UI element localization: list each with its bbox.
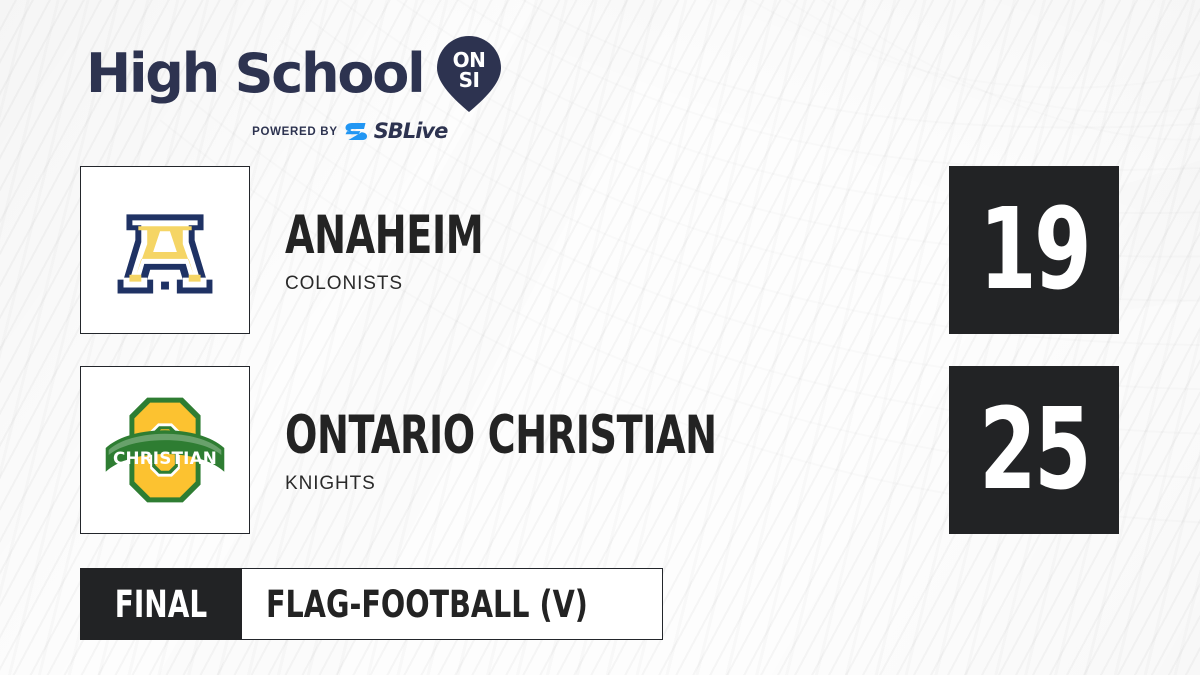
team-logo-card: CHRISTIAN <box>80 366 250 534</box>
team-text-block: ANAHEIM COLONISTS <box>285 166 1045 334</box>
team-logo-card <box>80 166 250 334</box>
team-score: 19 <box>979 194 1089 306</box>
game-status-badge: FINAL <box>80 568 242 640</box>
ontario-christian-knights-logo: CHRISTIAN <box>81 367 249 533</box>
on-si-pin-icon: ON SI <box>437 36 501 112</box>
team-score-box: 25 <box>949 366 1119 534</box>
sport-label-box: FLAG-FOOTBALL (V) <box>242 568 663 640</box>
anaheim-colonists-logo <box>81 167 249 333</box>
team-name: ONTARIO CHRISTIAN <box>285 409 717 462</box>
sport-label: FLAG-FOOTBALL (V) <box>266 586 588 623</box>
sblive-wordmark: SBLive <box>374 121 448 142</box>
powered-by-label: POWERED BY <box>252 126 338 138</box>
team-text-block: ONTARIO CHRISTIAN KNIGHTS <box>285 366 1045 534</box>
game-status-label: FINAL <box>115 586 207 623</box>
team-score-box: 19 <box>949 166 1119 334</box>
brand-title-row: High School ON SI <box>86 36 501 112</box>
status-bar: FINAL FLAG-FOOTBALL (V) <box>80 568 663 640</box>
team-name: ANAHEIM <box>285 209 483 262</box>
team-mascot: KNIGHTS <box>285 474 376 493</box>
pin-text-si: SI <box>459 68 480 92</box>
sblive-s-mark-icon <box>345 123 367 140</box>
team-score: 25 <box>979 394 1089 506</box>
brand-lockup: High School ON SI POWERED BY SBLive <box>86 36 501 142</box>
logo-wordmark: CHRISTIAN <box>113 448 217 468</box>
scoreboard-graphic: High School ON SI POWERED BY SBLive <box>0 0 1200 675</box>
powered-by-row: POWERED BY SBLive <box>86 121 501 142</box>
brand-title: High School <box>86 47 423 101</box>
team-mascot: COLONISTS <box>285 274 403 293</box>
